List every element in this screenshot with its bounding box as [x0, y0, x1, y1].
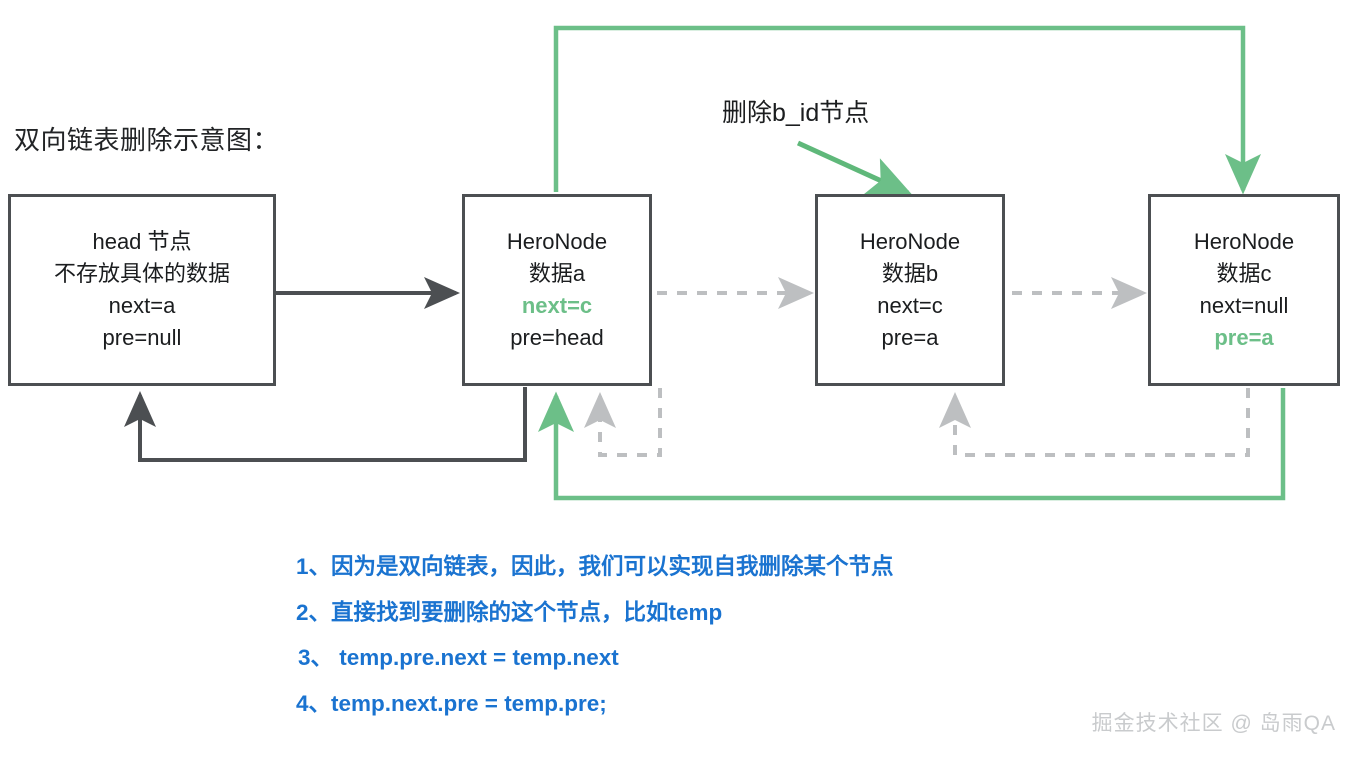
annotation-pointer-arrow — [798, 143, 908, 193]
node-a-line-0: HeroNode — [507, 226, 607, 258]
edge-c-pre-b-dashed — [955, 388, 1248, 455]
notes-list: 1、因为是双向链表，因此，我们可以实现自我删除某个节点 2、直接找到要删除的这个… — [296, 556, 1196, 738]
node-a-line-1: 数据a — [529, 258, 585, 290]
watermark: 掘金技术社区 @ 岛雨QA — [1092, 707, 1336, 737]
edge-c-pre-a-green — [556, 388, 1283, 498]
node-c-line-3: pre=a — [1214, 322, 1273, 354]
node-b-line-0: HeroNode — [860, 226, 960, 258]
delete-annotation-label: 删除b_id节点 — [722, 93, 869, 129]
node-a[interactable]: HeroNode 数据a next=c pre=head — [462, 194, 652, 386]
node-c[interactable]: HeroNode 数据c next=null pre=a — [1148, 194, 1340, 386]
node-b-line-2: next=c — [877, 290, 942, 322]
note-item-3: 3、 temp.pre.next = temp.next — [296, 647, 1196, 670]
node-head-line-2: next=a — [109, 290, 176, 322]
node-c-line-2: next=null — [1200, 290, 1289, 322]
note-item-2: 2、直接找到要删除的这个节点，比如temp — [296, 602, 1196, 625]
edge-a-next-c-green — [556, 28, 1243, 192]
page-title: 双向链表删除示意图： — [14, 120, 279, 157]
node-c-line-1: 数据c — [1216, 258, 1271, 290]
note-item-1: 1、因为是双向链表，因此，我们可以实现自我删除某个节点 — [296, 556, 1196, 579]
diagram-canvas: 双向链表删除示意图： 删除b_id节点 head 节点 不存放具体的数据 nex… — [0, 0, 1350, 761]
node-head-line-3: pre=null — [103, 322, 182, 354]
node-b-line-3: pre=a — [882, 322, 939, 354]
node-a-line-3: pre=head — [510, 322, 604, 354]
note-item-4: 4、temp.next.pre = temp.pre; — [296, 693, 1196, 716]
node-c-line-0: HeroNode — [1194, 226, 1294, 258]
node-b-line-1: 数据b — [882, 258, 938, 290]
node-a-line-2: next=c — [522, 290, 592, 322]
node-head-line-0: head 节点 — [92, 226, 191, 258]
edge-a-pre-head — [140, 387, 525, 460]
edge-b-pre-a-dashed — [600, 388, 660, 455]
node-head-line-1: 不存放具体的数据 — [54, 258, 230, 290]
node-b[interactable]: HeroNode 数据b next=c pre=a — [815, 194, 1005, 386]
node-head[interactable]: head 节点 不存放具体的数据 next=a pre=null — [8, 194, 276, 386]
